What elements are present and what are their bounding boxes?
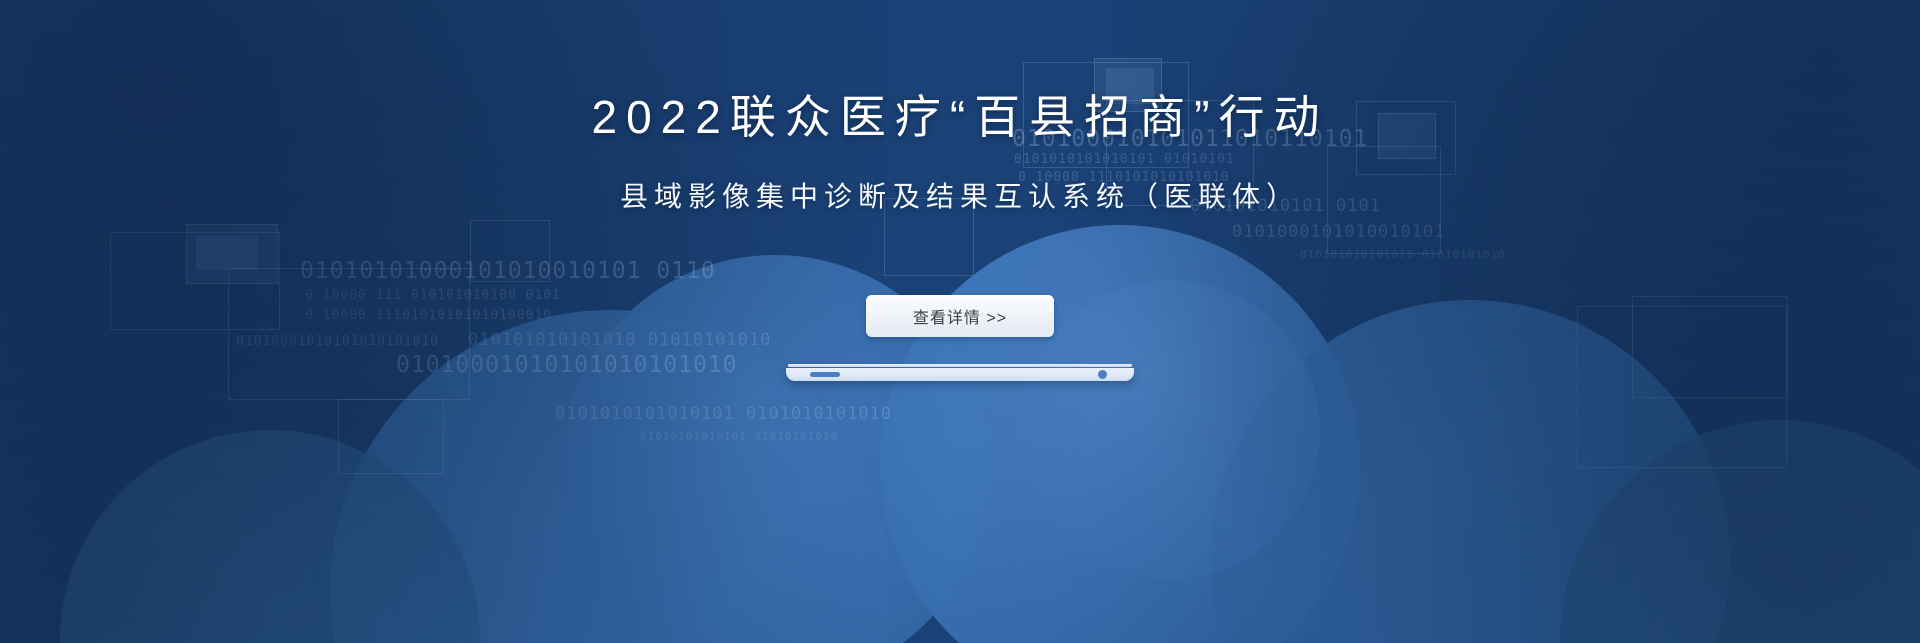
banner-title: 2022联众医疗“百县招商”行动 [0,92,1920,143]
decor-square-1 [196,236,258,270]
binary-line: 0 10000 11101010101010100010 [305,308,552,323]
home-button-icon[interactable] [1098,370,1107,379]
view-details-button[interactable]: 查看详情 >> [866,295,1054,337]
promo-banner: 01010101000101010010101 0110 0 10000 111… [0,0,1920,643]
binary-line: 01010001010101010101010 [396,352,738,378]
banner-subtitle: 县域影像集中诊断及结果互认系统（医联体） [0,180,1920,214]
binary-line: 010101010101010 01010101010 [1300,248,1506,261]
tablet-device-edge [786,364,1134,382]
binary-line: 0 10000 111 010101010100 0101 [305,288,561,303]
decor-rect-12 [1632,296,1788,398]
binary-line: 0101010101010101 01010101 [1014,152,1235,167]
device-screen-edge [788,364,1132,367]
binary-line: 01010001010101010101010 [236,334,439,349]
decor-rect-4 [338,399,444,474]
speaker-slot-icon [810,372,840,377]
binary-line: 01010101010101 01010101010 [640,430,838,443]
binary-line: 01010101000101010010101 0110 [300,258,716,284]
binary-line: 010101010101010 01010101010 [468,330,771,350]
binary-line: 0101000101010010101 [1232,222,1445,242]
cloud-shape-highlight [1020,280,1320,580]
binary-line: 0101010101010101 0101010101010 [555,404,892,424]
